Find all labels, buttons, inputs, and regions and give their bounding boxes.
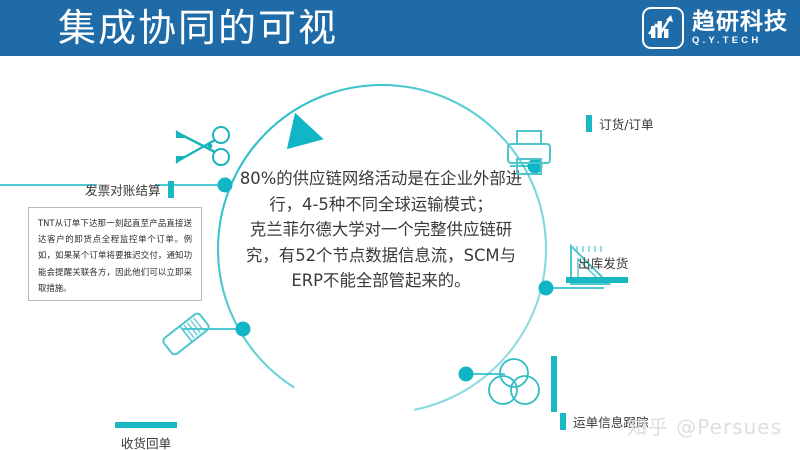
label-receipt: 收货回单 — [115, 422, 177, 450]
watermark: 知乎 @Persues — [627, 411, 782, 440]
note-box-text: TNT从订单下达那一刻起直至产品直接送达客户的卸货点全程监控单个订单。例如，如果… — [38, 215, 192, 296]
diagram-canvas: 80%的供应链网络活动是在企业外部进行，4-5种不同全球运输模式； 克兰菲尔德大… — [0, 56, 800, 450]
label-order-text: 订货/订单 — [599, 114, 654, 133]
page-title: 集成协同的可视 — [58, 2, 338, 54]
label-invoice: 发票对账结算 — [85, 180, 174, 199]
slide-root: 集成协同的可视 趋研科技 Q.Y.TECH — [0, 0, 800, 450]
printer-icon — [503, 128, 555, 183]
brand-name-cn: 趋研科技 — [692, 10, 788, 35]
label-receipt-text: 收货回单 — [121, 433, 171, 450]
label-outbound-text: 出库发货 — [578, 253, 628, 272]
brand-logo: 趋研科技 Q.Y.TECH — [642, 5, 788, 51]
accent-bar-waybill-icon — [551, 356, 557, 412]
note-box: TNT从订单下达那一刻起直至产品直接送达客户的卸货点全程监控单个订单。例如，如果… — [28, 207, 202, 301]
accent-bar-icon — [168, 181, 174, 198]
brand-name-en: Q.Y.TECH — [692, 35, 788, 47]
venn-circles-icon — [483, 354, 545, 417]
center-paragraph: 80%的供应链网络活动是在企业外部进行，4-5种不同全球运输模式； 克兰菲尔德大… — [236, 166, 526, 294]
scissors-icon — [172, 118, 236, 181]
eraser-icon — [155, 305, 217, 368]
ring-arrow-head — [277, 107, 324, 151]
brand-logo-text: 趋研科技 Q.Y.TECH — [692, 10, 788, 47]
accent-bar-outbound-icon — [566, 277, 628, 283]
accent-bar-icon — [560, 413, 566, 430]
bar-chart-arrow-logo-icon — [642, 7, 684, 49]
accent-bar-icon — [586, 115, 592, 132]
label-order: 订货/订单 — [586, 114, 654, 133]
label-invoice-text: 发票对账结算 — [85, 180, 161, 199]
accent-bar-icon — [115, 422, 177, 428]
label-outbound: 出库发货 — [578, 253, 628, 272]
slide-header: 集成协同的可视 趋研科技 Q.Y.TECH — [0, 0, 800, 56]
